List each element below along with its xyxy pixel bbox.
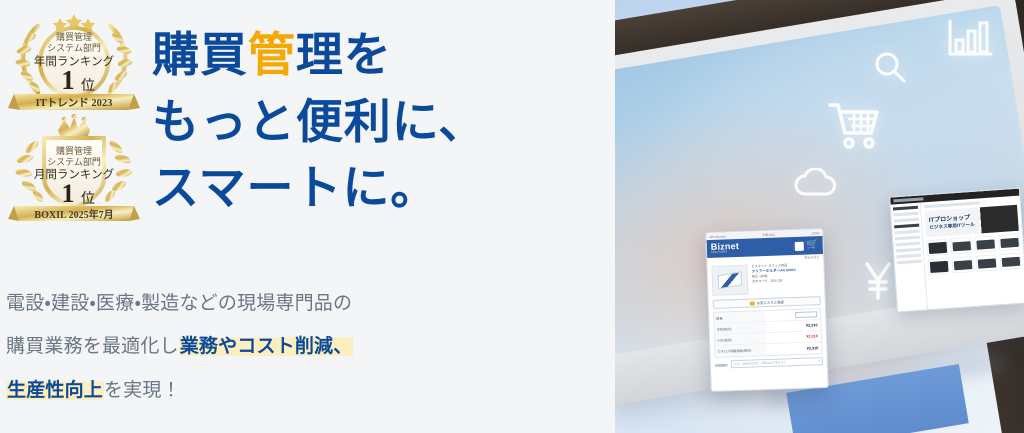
- print-location-field: 印刷箇所 入力（全角50文字、半角100文字まで） ▾: [711, 354, 827, 372]
- row-label: 小計(税別): [715, 333, 766, 345]
- input-placeholder: 入力（全角50文字、半角100文字まで）: [734, 360, 787, 366]
- sidebar-row[interactable]: [895, 242, 920, 247]
- badge2-department: システム部門: [47, 157, 101, 167]
- lead-line-2-emphasis: 業務やコスト削減、: [179, 336, 354, 357]
- biznet-logo: Biznet SOLUTIONS: [711, 242, 740, 254]
- grid-item[interactable]: [998, 234, 1020, 251]
- badge1-rank: 1: [61, 65, 75, 95]
- sidebar-row[interactable]: [896, 254, 921, 259]
- sidebar-row[interactable]: [894, 218, 919, 223]
- page-title: 購買管理を もっと便利に、 スマートに。: [152, 22, 486, 222]
- award-badge-it-trend: 購買管理 システム部門 年間ランキング 1 位 ITトレンド 2023: [8, 4, 140, 114]
- price-table: 数量 本体(税別) ¥2,310 小計(税別) ¥2,310 カタログ掲載価格(…: [713, 308, 823, 358]
- headline-line-2: もっと便利に、: [152, 95, 486, 148]
- product-image: [711, 265, 748, 296]
- order-code: 注文コード 283-138: [752, 277, 820, 284]
- badge1-unit: 位: [81, 78, 95, 94]
- headline-part-a: 購買: [152, 28, 248, 81]
- sidebar-row[interactable]: [895, 230, 920, 235]
- headline-highlight: 管: [248, 28, 296, 81]
- clock-label: 午前 9:41: [762, 232, 775, 236]
- row-label: 本体(税別): [714, 322, 765, 334]
- biznet-brand-subtext: SOLUTIONS: [711, 251, 739, 254]
- badge1-ribbon: ITトレンド 2023: [36, 97, 113, 109]
- add-to-favorites-button[interactable]: お気に入りに登録: [713, 296, 821, 309]
- badge1-category: 購買管理: [56, 31, 92, 42]
- grid-item[interactable]: [928, 258, 950, 275]
- header-icons: 🛒: [794, 240, 819, 251]
- shopping-cart-icon: [827, 100, 883, 157]
- sidebar-row[interactable]: [893, 206, 918, 211]
- sidebar-row[interactable]: [896, 248, 921, 253]
- grid-item[interactable]: [950, 237, 972, 254]
- proshop-banner[interactable]: ITプロショップ ビジネス専用ITツール: [924, 205, 1019, 237]
- grid-item[interactable]: [926, 239, 948, 256]
- lead-line-3-emphasis: 生産性向上: [6, 380, 104, 401]
- grid-item[interactable]: [974, 235, 996, 252]
- hero-banner: ahh docomo 午前 9:41 100% Biznet SOLUTIONS…: [0, 0, 1024, 433]
- cloud-icon: [793, 168, 837, 203]
- carrier-label: ahh docomo: [709, 234, 726, 239]
- lead-line-3-plain: を実現！: [104, 380, 181, 401]
- cart-icon[interactable]: 🛒: [806, 240, 819, 250]
- lead-line-1: 電設・建設・医療・製造などの現場専門品の: [6, 293, 352, 314]
- headline-part-b: 理を: [296, 28, 392, 81]
- biznet-mobile-card[interactable]: ahh docomo 午前 9:41 100% Biznet SOLUTIONS…: [705, 228, 829, 392]
- product-text: ビズネット オフィス用品 クリアーホルダーA4 0400J 税込 100枚 注文…: [751, 262, 820, 294]
- grid-item[interactable]: [952, 256, 974, 273]
- award-badges: 購買管理 システム部門 年間ランキング 1 位 ITトレンド 2023: [8, 4, 140, 224]
- grid-item[interactable]: [975, 254, 997, 271]
- headline-line-1: 購買管理を: [152, 28, 392, 81]
- sidebar-row[interactable]: [897, 260, 922, 265]
- quantity-stepper[interactable]: [795, 311, 817, 318]
- search-icon: [873, 50, 907, 89]
- award-badge-boxil: 購買管理 システム部門 月間ランキング 1 位 BOXIL 2025年7月: [8, 114, 140, 224]
- add-button-label: お気に入りに登録: [757, 299, 784, 305]
- print-location-input[interactable]: 入力（全角50文字、半角100文字まで） ▾: [730, 357, 822, 368]
- row-value[interactable]: [765, 311, 820, 319]
- lead-line-2-plain: 購買業務を最適化し: [6, 336, 179, 357]
- field-label: 印刷箇所: [715, 362, 728, 367]
- sidebar-row[interactable]: [895, 236, 920, 241]
- menu-icon[interactable]: [794, 241, 803, 250]
- row-label: 数量: [714, 311, 765, 323]
- row-value: ¥2,310: [765, 323, 820, 329]
- it-proshop-panel[interactable]: ITプロショップ ビジネス専用ITツール: [889, 188, 1024, 313]
- badge2-rank: 1: [62, 179, 75, 208]
- panel-body: ITプロショップ ビジネス専用ITツール: [891, 196, 1024, 312]
- panel-main: ITプロショップ ビジネス専用ITツール: [921, 196, 1024, 310]
- badge2-category: 購買管理: [56, 145, 92, 156]
- product-detail: ビズネット オフィス用品 クリアーホルダーA4 0400J 税込 100枚 注文…: [707, 260, 824, 298]
- row-value: ¥2,310: [766, 334, 821, 340]
- badge1-department: システム部門: [47, 43, 101, 53]
- order-code-label: 注文コード: [752, 279, 768, 284]
- folder-icon: [750, 301, 755, 305]
- lead-paragraph: 電設・建設・医療・製造などの現場専門品の 購買業務を最適化し業務やコスト削減、 …: [6, 282, 353, 412]
- headline-line-3: スマートに。: [152, 161, 438, 214]
- badge2-ribbon: BOXIL 2025年7月: [34, 208, 113, 221]
- product-grid: [926, 234, 1021, 275]
- battery-label: 100%: [812, 231, 820, 235]
- grid-item[interactable]: [999, 253, 1021, 270]
- row-value: ¥2,310: [766, 346, 821, 352]
- sidebar-row[interactable]: [893, 212, 918, 217]
- chevron-down-icon: ▾: [818, 359, 820, 363]
- order-code-value: 283-138: [771, 278, 783, 282]
- badge2-unit: 位: [81, 191, 95, 207]
- row-label: カタログ掲載価格(税別): [715, 344, 766, 357]
- banner-text: ITプロショップ ビジネス専用ITツール: [929, 215, 975, 230]
- sidebar-row[interactable]: [894, 224, 919, 229]
- bar-chart-icon: [947, 18, 993, 63]
